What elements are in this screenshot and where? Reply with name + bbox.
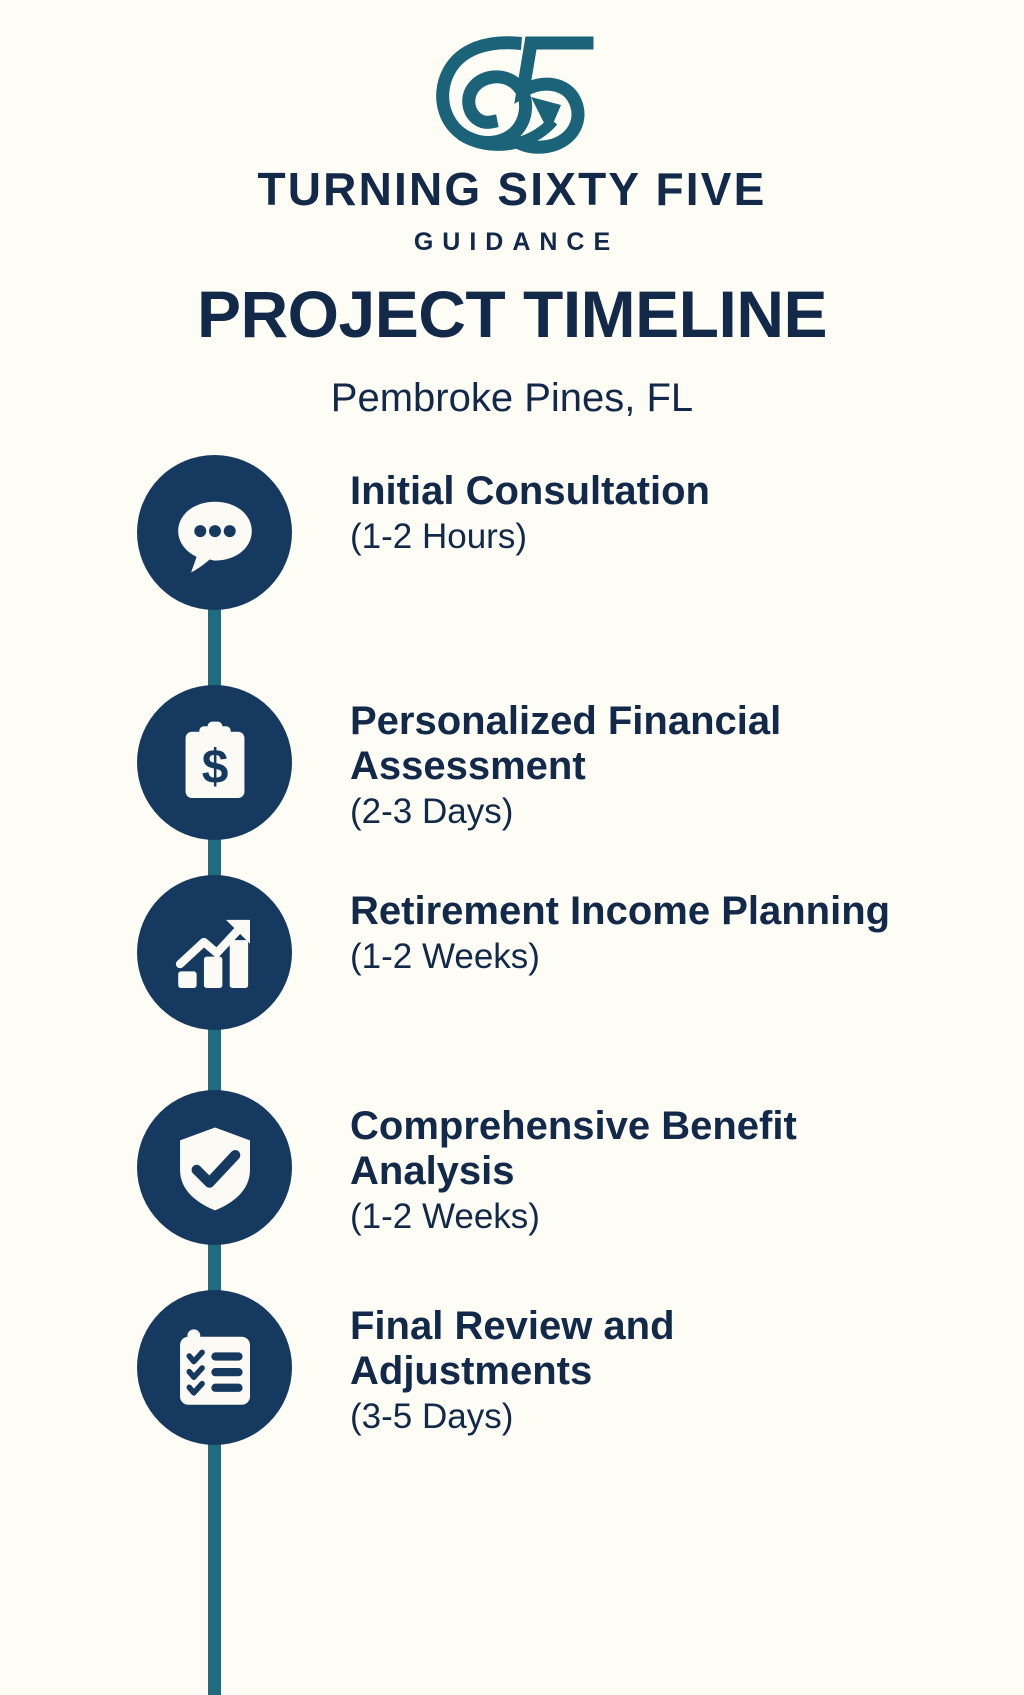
step-icon-wrapper: $ bbox=[137, 685, 292, 840]
step-icon-wrapper bbox=[137, 1090, 292, 1245]
step-duration: (3-5 Days) bbox=[350, 1396, 1024, 1437]
timeline-step[interactable]: Initial Consultation (1-2 Hours) bbox=[0, 455, 1024, 610]
timeline-step[interactable]: Comprehensive Benefit Analysis (1-2 Week… bbox=[0, 1090, 1024, 1245]
step-title: Retirement Income Planning bbox=[350, 889, 910, 934]
timeline-step[interactable]: $ Personalized Financial Assessment (2-3… bbox=[0, 685, 1024, 840]
step-icon-wrapper bbox=[137, 1290, 292, 1445]
logo-mark bbox=[0, 28, 1024, 158]
logo-65-arrow-icon bbox=[427, 29, 597, 157]
bar-chart-growth-icon bbox=[169, 907, 261, 999]
step-text: Personalized Financial Assessment (2-3 D… bbox=[292, 685, 1024, 832]
page-subtitle: Pembroke Pines, FL bbox=[0, 378, 1024, 418]
step-icon-wrapper bbox=[137, 875, 292, 1030]
step-title: Comprehensive Benefit Analysis bbox=[350, 1104, 910, 1194]
chat-bubble-icon bbox=[169, 487, 261, 579]
brand-subtitle: GUIDANCE bbox=[0, 228, 1024, 257]
step-duration: (2-3 Days) bbox=[350, 791, 1024, 832]
step-duration: (1-2 Weeks) bbox=[350, 1196, 1024, 1237]
step-title: Personalized Financial Assessment bbox=[350, 699, 910, 789]
step-badge bbox=[137, 1290, 292, 1445]
page-title: PROJECT TIMELINE bbox=[0, 281, 1024, 347]
timeline: Initial Consultation (1-2 Hours) $ Perso… bbox=[0, 455, 1024, 1445]
shield-check-icon bbox=[169, 1122, 261, 1214]
step-text: Final Review and Adjustments (3-5 Days) bbox=[292, 1290, 1024, 1437]
step-duration: (1-2 Hours) bbox=[350, 516, 1024, 557]
step-badge: $ bbox=[137, 685, 292, 840]
step-text: Initial Consultation (1-2 Hours) bbox=[292, 455, 1024, 557]
step-text: Comprehensive Benefit Analysis (1-2 Week… bbox=[292, 1090, 1024, 1237]
step-title: Initial Consultation bbox=[350, 469, 910, 514]
step-title: Final Review and Adjustments bbox=[350, 1304, 910, 1394]
step-icon-wrapper bbox=[137, 455, 292, 610]
brand-name: TURNING SIXTY FIVE bbox=[0, 166, 1024, 212]
clipboard-dollar-icon: $ bbox=[169, 717, 261, 809]
step-badge bbox=[137, 1090, 292, 1245]
timeline-step[interactable]: Final Review and Adjustments (3-5 Days) bbox=[0, 1290, 1024, 1445]
step-badge bbox=[137, 875, 292, 1030]
step-badge bbox=[137, 455, 292, 610]
checklist-icon bbox=[169, 1322, 261, 1414]
timeline-step[interactable]: Retirement Income Planning (1-2 Weeks) bbox=[0, 875, 1024, 1030]
step-duration: (1-2 Weeks) bbox=[350, 936, 1024, 977]
svg-text:$: $ bbox=[201, 741, 228, 794]
brand-header: TURNING SIXTY FIVE GUIDANCE bbox=[0, 0, 1024, 257]
step-text: Retirement Income Planning (1-2 Weeks) bbox=[292, 875, 1024, 977]
